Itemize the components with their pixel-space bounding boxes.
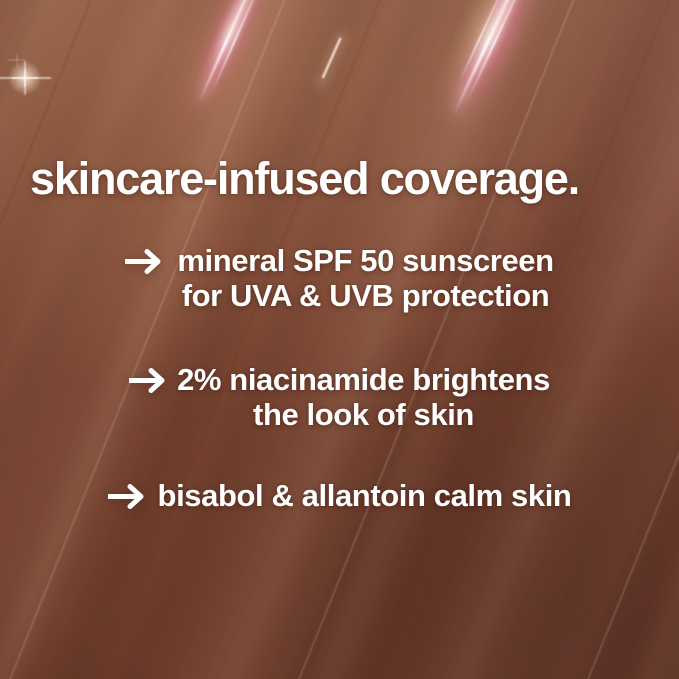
promo-image: skincare-infused coverage. mineral SPF 5… — [0, 0, 679, 679]
list-item-label: 2% niacinamide brightens the look of ski… — [177, 362, 550, 433]
list-item: 2% niacinamide brightens the look of ski… — [0, 362, 679, 433]
list-item: bisabol & allantoin calm skin — [0, 478, 679, 513]
list-item: mineral SPF 50 sunscreen for UVA & UVB p… — [0, 243, 679, 314]
arrow-right-icon — [125, 248, 165, 275]
text-content: skincare-infused coverage. mineral SPF 5… — [0, 0, 679, 679]
arrow-right-icon — [129, 367, 169, 394]
list-item-label: bisabol & allantoin calm skin — [158, 478, 572, 513]
list-item-label: mineral SPF 50 sunscreen for UVA & UVB p… — [177, 243, 553, 314]
page-title: skincare-infused coverage. — [30, 156, 579, 201]
arrow-right-icon — [108, 483, 148, 510]
